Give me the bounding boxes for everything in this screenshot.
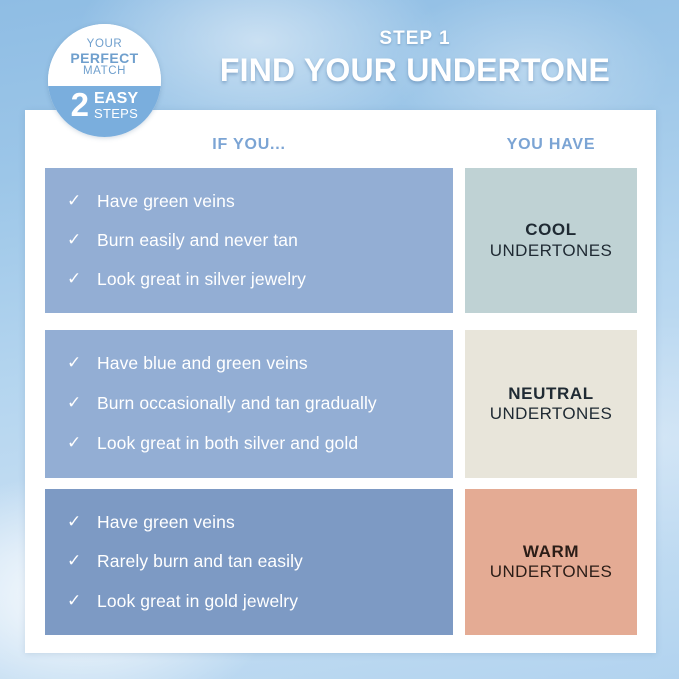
infographic-canvas: YOUR PERFECT MATCH 2 EASY STEPS STEP 1 F… bbox=[0, 0, 679, 679]
criteria-text: Burn easily and never tan bbox=[97, 229, 298, 252]
badge-step-count: 2 bbox=[71, 89, 89, 120]
undertone-sublabel: UNDERTONES bbox=[490, 404, 612, 424]
criteria-item: ✓Have green veins bbox=[67, 190, 437, 213]
criteria-text: Look great in gold jewelry bbox=[97, 590, 298, 613]
badge-label-steps: STEPS bbox=[94, 107, 138, 120]
criteria-text: Look great in silver jewelry bbox=[97, 268, 306, 291]
criteria-panel: ✓Have blue and green veins✓Burn occasion… bbox=[45, 330, 453, 478]
badge-steps-stack: EASY STEPS bbox=[94, 89, 138, 120]
undertone-sublabel: UNDERTONES bbox=[490, 562, 612, 582]
undertone-swatch: COOLUNDERTONES bbox=[465, 168, 637, 313]
check-icon: ✓ bbox=[67, 432, 97, 455]
badge-bottom-half: 2 EASY STEPS bbox=[48, 86, 161, 137]
criteria-text: Rarely burn and tan easily bbox=[97, 550, 303, 573]
undertone-swatch: NEUTRALUNDERTONES bbox=[465, 330, 637, 478]
criteria-text: Look great in both silver and gold bbox=[97, 432, 358, 455]
criteria-item: ✓Look great in gold jewelry bbox=[67, 590, 437, 613]
criteria-item: ✓Rarely burn and tan easily bbox=[67, 550, 437, 573]
criteria-text: Have green veins bbox=[97, 511, 235, 534]
perfect-match-badge: YOUR PERFECT MATCH 2 EASY STEPS bbox=[48, 24, 161, 137]
check-icon: ✓ bbox=[67, 392, 97, 415]
criteria-text: Burn occasionally and tan gradually bbox=[97, 392, 377, 415]
undertone-name: WARM bbox=[523, 542, 579, 562]
page-title: FIND YOUR UNDERTONE bbox=[170, 52, 660, 89]
badge-top-half: YOUR PERFECT MATCH bbox=[48, 24, 161, 86]
page-title-block: STEP 1 FIND YOUR UNDERTONE bbox=[170, 28, 660, 89]
criteria-item: ✓Have green veins bbox=[67, 511, 437, 534]
column-header-you-have: YOU HAVE bbox=[465, 136, 637, 154]
check-icon: ✓ bbox=[67, 229, 97, 252]
undertone-row: ✓Have blue and green veins✓Burn occasion… bbox=[45, 330, 453, 478]
undertone-sublabel: UNDERTONES bbox=[490, 241, 612, 261]
undertone-name: COOL bbox=[525, 220, 577, 240]
criteria-item: ✓Burn occasionally and tan gradually bbox=[67, 392, 437, 415]
badge-line-match: MATCH bbox=[83, 65, 126, 77]
undertone-name: NEUTRAL bbox=[508, 384, 593, 404]
criteria-item: ✓Look great in silver jewelry bbox=[67, 268, 437, 291]
undertone-row: ✓Have green veins✓Burn easily and never … bbox=[45, 168, 453, 313]
badge-line-perfect: PERFECT bbox=[70, 51, 138, 66]
check-icon: ✓ bbox=[67, 268, 97, 291]
criteria-text: Have blue and green veins bbox=[97, 352, 308, 375]
check-icon: ✓ bbox=[67, 590, 97, 613]
check-icon: ✓ bbox=[67, 352, 97, 375]
step-label: STEP 1 bbox=[170, 28, 660, 50]
check-icon: ✓ bbox=[67, 511, 97, 534]
undertone-swatch: WARMUNDERTONES bbox=[465, 489, 637, 635]
badge-line-your: YOUR bbox=[87, 38, 123, 50]
criteria-item: ✓Have blue and green veins bbox=[67, 352, 437, 375]
criteria-panel: ✓Have green veins✓Rarely burn and tan ea… bbox=[45, 489, 453, 635]
undertone-row: ✓Have green veins✓Rarely burn and tan ea… bbox=[45, 489, 453, 635]
check-icon: ✓ bbox=[67, 550, 97, 573]
criteria-text: Have green veins bbox=[97, 190, 235, 213]
criteria-item: ✓Burn easily and never tan bbox=[67, 229, 437, 252]
badge-label-easy: EASY bbox=[94, 91, 138, 107]
criteria-item: ✓Look great in both silver and gold bbox=[67, 432, 437, 455]
column-header-if-you: IF YOU... bbox=[45, 136, 453, 154]
criteria-panel: ✓Have green veins✓Burn easily and never … bbox=[45, 168, 453, 313]
check-icon: ✓ bbox=[67, 190, 97, 213]
